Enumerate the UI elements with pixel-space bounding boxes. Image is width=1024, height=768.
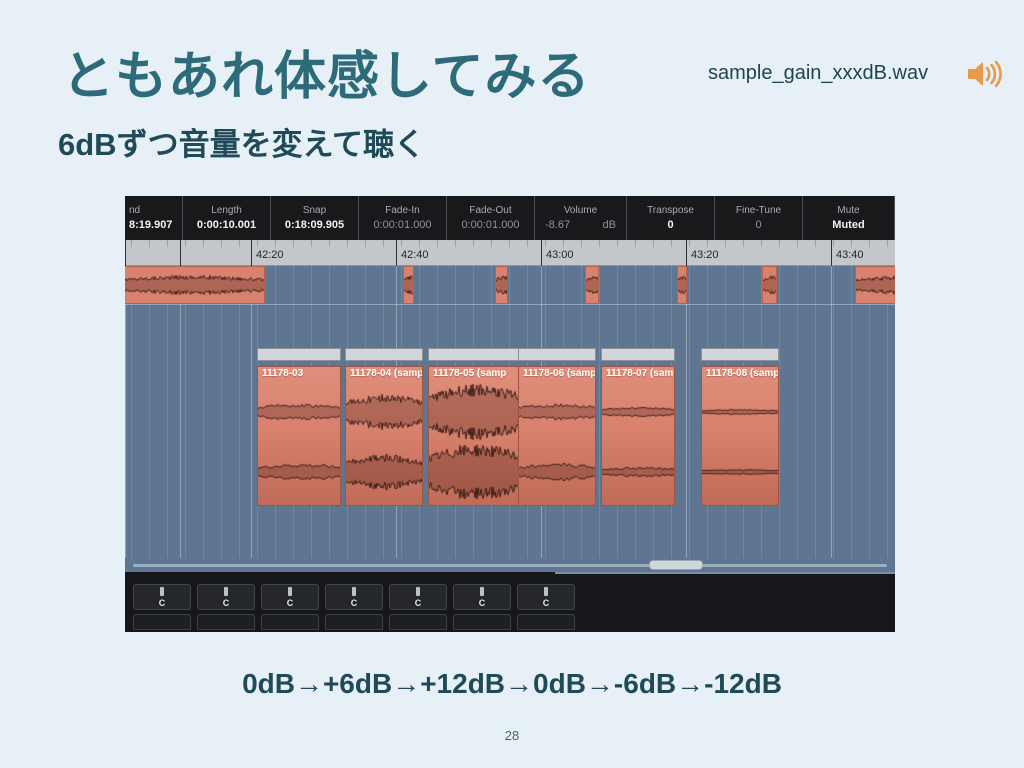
info-label: Mute	[837, 205, 859, 216]
ruler-tick	[257, 240, 258, 247]
pad-slider[interactable]	[160, 587, 164, 596]
info-cell-snap[interactable]: Snap0:18:09.905	[271, 196, 359, 240]
grid-line	[203, 266, 204, 558]
ruler-tick	[617, 240, 618, 247]
info-label: Length	[211, 205, 242, 216]
clip-name-label: 11178-03	[262, 368, 303, 379]
ruler-label: 42:40	[398, 249, 429, 261]
ruler-tick	[563, 240, 564, 247]
clip-name-label: 11178-06 (samp	[523, 368, 596, 379]
pad-label: C	[262, 598, 318, 608]
info-value[interactable]: 0:18:09.905	[285, 219, 344, 231]
ruler-label: 43:00	[543, 249, 574, 261]
info-label: Fine-Tune	[736, 205, 781, 216]
ruler-bar-tick	[541, 240, 542, 266]
ruler-tick	[725, 240, 726, 247]
ruler-label: 42:20	[253, 249, 284, 261]
ruler-tick	[545, 240, 546, 247]
pad-slider[interactable]	[416, 587, 420, 596]
ruler-tick	[293, 240, 294, 247]
info-cell-fade-out[interactable]: Fade-Out0:00:01.000	[447, 196, 535, 240]
ruler-tick	[707, 240, 708, 247]
ruler-tick	[149, 240, 150, 247]
pad-row[interactable]: CCCCCCC	[133, 584, 575, 610]
ruler-tick	[653, 240, 654, 247]
audio-region[interactable]: 11178-06 (samp	[518, 366, 596, 506]
ruler-tick	[383, 240, 384, 247]
info-label: Volume	[564, 205, 597, 216]
info-value[interactable]: 8:19.907	[129, 219, 172, 231]
grid-line	[131, 266, 132, 558]
ruler-tick	[311, 240, 312, 247]
audio-region[interactable]	[125, 266, 265, 304]
ruler-bar-tick	[831, 240, 832, 266]
daw-screenshot: nd8:19.907Length0:00:10.001Snap0:18:09.9…	[125, 196, 895, 632]
gain-sequence-caption: 0dB→+6dB→+12dB→0dB→-6dB→-12dB	[0, 668, 1024, 700]
info-cell-nd[interactable]: nd8:19.907	[125, 196, 183, 240]
grid-line	[815, 266, 816, 558]
pad-button[interactable]: C	[325, 584, 383, 610]
ruler-tick	[815, 240, 816, 247]
info-cell-length[interactable]: Length0:00:10.001	[183, 196, 271, 240]
grid-line	[869, 266, 870, 558]
grid-line	[239, 266, 240, 558]
info-cell-transpose[interactable]: Transpose0	[627, 196, 715, 240]
ruler-tick	[833, 240, 834, 247]
audio-file-name: sample_gain_xxxdB.wav	[708, 62, 928, 85]
ruler-bar-tick	[125, 240, 126, 266]
audio-region[interactable]: 11178-08 (samp	[701, 366, 779, 506]
info-value[interactable]: Muted	[832, 219, 864, 231]
clip-header-bar[interactable]	[701, 348, 779, 361]
ruler-tick	[473, 240, 474, 247]
ruler-tick	[437, 240, 438, 247]
info-label: Fade-In	[385, 205, 419, 216]
clip-name-label: 11178-05 (samp	[433, 368, 506, 379]
pad-button-secondary[interactable]	[453, 614, 511, 630]
ruler-tick	[887, 240, 888, 247]
grid-line	[185, 266, 186, 558]
pad-label: C	[134, 598, 190, 608]
page-subtitle: 6dBずつ音量を変えて聴く	[58, 119, 425, 164]
info-value[interactable]: -8.67dB	[539, 219, 622, 231]
grid-line	[851, 266, 852, 558]
audio-region[interactable]	[495, 266, 508, 304]
ruler-tick	[131, 240, 132, 247]
clip-header-bar[interactable]	[601, 348, 675, 361]
pad-button[interactable]: C	[453, 584, 511, 610]
info-value[interactable]: 0	[755, 219, 761, 231]
grid-line	[833, 266, 834, 558]
page-title: ともあれ体感してみる	[62, 34, 590, 109]
arrange-area[interactable]: 11178-0311178-04 (samp11178-05 (samp1117…	[125, 266, 895, 558]
pad-button-secondary[interactable]	[197, 614, 255, 630]
grid-line	[779, 266, 780, 558]
audio-region[interactable]	[677, 266, 687, 304]
timeline-ruler[interactable]: 42:2042:4043:0043:2043:40	[125, 240, 895, 266]
ruler-tick	[275, 240, 276, 247]
track-divider	[125, 304, 895, 305]
pad-label: C	[518, 598, 574, 608]
pad-slider[interactable]	[480, 587, 484, 596]
ruler-tick	[401, 240, 402, 247]
ruler-tick	[743, 240, 744, 247]
clip-header-bar[interactable]	[345, 348, 423, 361]
grid-line	[797, 266, 798, 558]
ruler-tick	[599, 240, 600, 247]
ruler-tick	[239, 240, 240, 247]
page-number: 28	[0, 728, 1024, 743]
info-label: Snap	[303, 205, 326, 216]
ruler-tick	[581, 240, 582, 247]
ruler-bar-tick	[251, 240, 252, 266]
info-value[interactable]: 0	[667, 219, 673, 231]
pad-label: C	[198, 598, 254, 608]
pad-button[interactable]: C	[197, 584, 255, 610]
pad-button-secondary[interactable]	[517, 614, 575, 630]
grid-line	[689, 266, 690, 558]
info-value[interactable]: 0:00:10.001	[197, 219, 256, 231]
ruler-tick	[491, 240, 492, 247]
pad-button[interactable]: C	[389, 584, 447, 610]
audio-region[interactable]: 11178-03	[257, 366, 341, 506]
ruler-tick	[419, 240, 420, 247]
speaker-volume-icon[interactable]	[966, 58, 1002, 90]
ruler-tick	[635, 240, 636, 247]
ruler-label: 43:40	[833, 249, 864, 261]
ruler-tick	[689, 240, 690, 247]
ruler-tick	[365, 240, 366, 247]
audio-region[interactable]	[585, 266, 599, 304]
pad-button-secondary[interactable]	[261, 614, 319, 630]
ruler-tick	[221, 240, 222, 247]
clip-header-bar[interactable]	[257, 348, 341, 361]
ruler-tick	[455, 240, 456, 247]
pad-button-secondary[interactable]	[325, 614, 383, 630]
info-label: nd	[129, 205, 140, 216]
ruler-label: 43:20	[688, 249, 719, 261]
audio-region[interactable]	[403, 266, 414, 304]
pad-slider[interactable]	[288, 587, 292, 596]
ruler-tick	[527, 240, 528, 247]
grid-line-bar	[831, 266, 832, 558]
ruler-tick	[797, 240, 798, 247]
audio-region[interactable]: 11178-04 (samp	[345, 366, 423, 506]
audio-region[interactable]: 11178-05 (samp	[428, 366, 523, 506]
clip-name-label: 11178-04 (samp	[350, 368, 423, 379]
pad-slider[interactable]	[544, 587, 548, 596]
pad-button[interactable]: C	[517, 584, 575, 610]
grid-line	[599, 266, 600, 558]
pad-row-secondary[interactable]	[133, 614, 575, 630]
ruler-bar-tick	[180, 240, 181, 266]
ruler-tick	[347, 240, 348, 247]
grid-line-bar	[125, 266, 126, 558]
info-label: Fade-Out	[469, 205, 511, 216]
clip-header-bar[interactable]	[428, 348, 523, 361]
info-label: Transpose	[647, 205, 694, 216]
ruler-tick	[869, 240, 870, 247]
scrollbar-handle[interactable]	[649, 560, 703, 570]
ruler-bar-tick	[686, 240, 687, 266]
clip-name-label: 11178-07 (samp	[606, 368, 675, 379]
pad-slider[interactable]	[352, 587, 356, 596]
grid-line-bar	[251, 266, 252, 558]
audio-region[interactable]	[762, 266, 777, 304]
info-value[interactable]: 0:00:01.000	[461, 219, 519, 231]
ruler-tick	[167, 240, 168, 247]
horizontal-scrollbar[interactable]	[125, 558, 895, 572]
audio-region[interactable]	[855, 266, 895, 304]
ruler-tick	[185, 240, 186, 247]
ruler-tick	[779, 240, 780, 247]
clip-header-bar[interactable]	[518, 348, 596, 361]
ruler-tick	[329, 240, 330, 247]
info-value[interactable]: 0:00:01.000	[373, 219, 431, 231]
pad-button[interactable]: C	[261, 584, 319, 610]
grid-line-bar	[686, 266, 687, 558]
info-cell-fine-tune[interactable]: Fine-Tune0	[715, 196, 803, 240]
ruler-tick	[761, 240, 762, 247]
ruler-tick	[509, 240, 510, 247]
pad-label: C	[390, 598, 446, 608]
region-inspector-bar: nd8:19.907Length0:00:10.001Snap0:18:09.9…	[125, 196, 895, 240]
grid-line	[167, 266, 168, 558]
info-cell-volume[interactable]: Volume-8.67dB	[535, 196, 627, 240]
pad-button[interactable]: C	[133, 584, 191, 610]
ruler-tick	[851, 240, 852, 247]
grid-line	[887, 266, 888, 558]
pad-button-secondary[interactable]	[133, 614, 191, 630]
clip-name-label: 11178-08 (samp	[706, 368, 779, 379]
info-cell-mute[interactable]: MuteMuted	[803, 196, 895, 240]
grid-line	[221, 266, 222, 558]
pad-button-secondary[interactable]	[389, 614, 447, 630]
ruler-bar-tick	[396, 240, 397, 266]
ruler-tick	[203, 240, 204, 247]
grid-line	[149, 266, 150, 558]
grid-line-bar	[180, 266, 181, 558]
lower-toolbar-strip: CCCCCCC	[125, 572, 895, 632]
pad-label: C	[326, 598, 382, 608]
info-cell-fade-in[interactable]: Fade-In0:00:01.000	[359, 196, 447, 240]
pad-slider[interactable]	[224, 587, 228, 596]
pad-label: C	[454, 598, 510, 608]
audio-region[interactable]: 11178-07 (samp	[601, 366, 675, 506]
scrollbar-track	[133, 564, 887, 567]
ruler-tick	[671, 240, 672, 247]
